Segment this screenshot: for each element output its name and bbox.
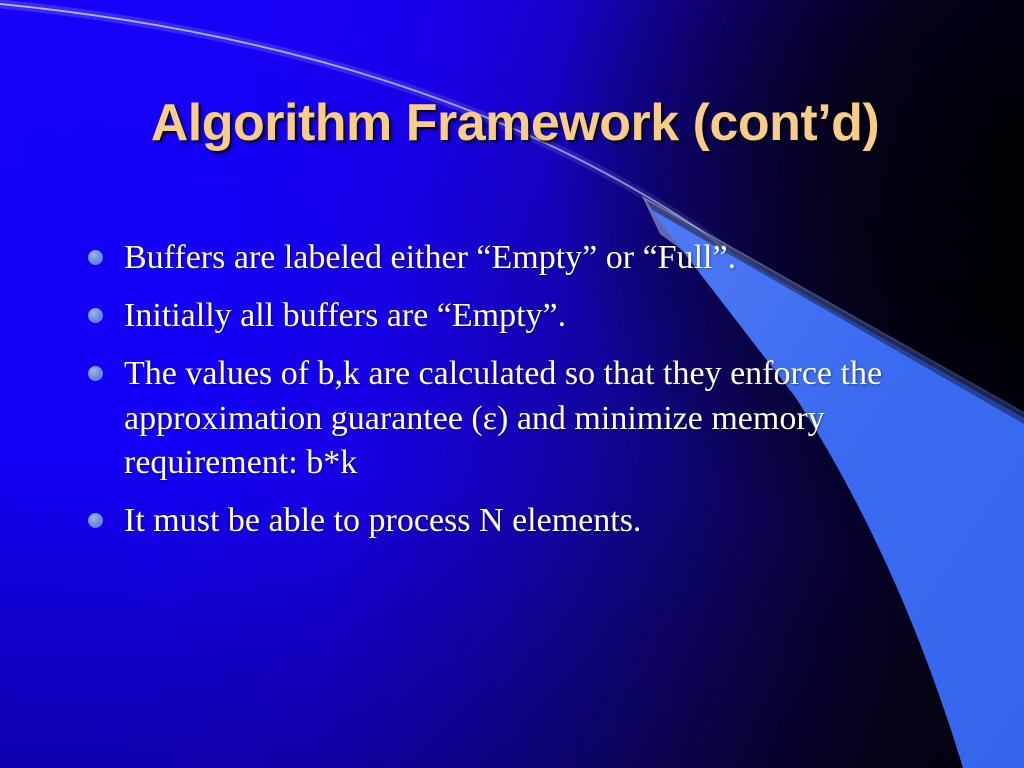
list-item-text: The values of b,k are calculated so that… xyxy=(124,352,960,485)
list-item-text: It must be able to process N elements. xyxy=(124,499,960,543)
list-item-text: Initially all buffers are “Empty”. xyxy=(124,294,904,338)
bullet-dot-icon xyxy=(88,366,103,381)
list-item: Initially all buffers are “Empty”. xyxy=(88,294,960,338)
slide-title: Algorithm Framework (cont’d) xyxy=(60,96,970,151)
list-item: It must be able to process N elements. xyxy=(88,499,960,543)
presentation-slide: Algorithm Framework (cont’d) Buffers are… xyxy=(0,0,1024,768)
list-item-text: Buffers are labeled either “Empty” or “F… xyxy=(124,236,904,280)
list-item: Buffers are labeled either “Empty” or “F… xyxy=(88,236,960,280)
bullet-dot-icon xyxy=(88,250,103,265)
bullet-dot-icon xyxy=(88,513,103,528)
bullet-dot-icon xyxy=(88,308,103,323)
list-item: The values of b,k are calculated so that… xyxy=(88,352,960,485)
slide-body-bullet-list: Buffers are labeled either “Empty” or “F… xyxy=(88,236,960,557)
